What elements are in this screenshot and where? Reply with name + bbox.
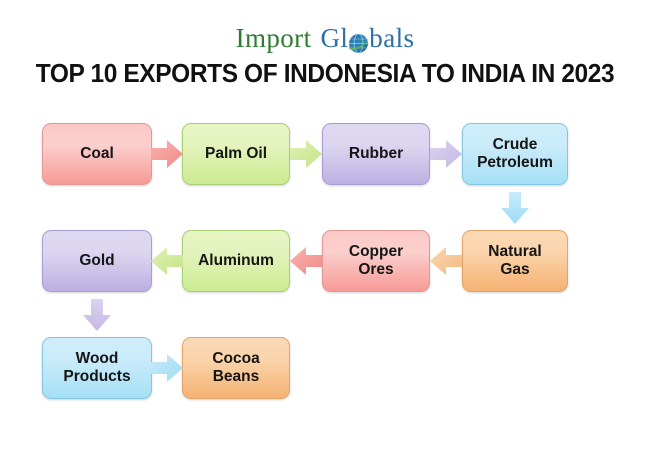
arrow-aluminum-to-gold (150, 244, 184, 278)
node-cocoa-beans[interactable]: Cocoa Beans (182, 337, 290, 399)
node-label: Natural Gas (482, 243, 547, 279)
node-palm-oil[interactable]: Palm Oil (182, 123, 290, 185)
node-aluminum[interactable]: Aluminum (182, 230, 290, 292)
node-coal[interactable]: Coal (42, 123, 152, 185)
node-copper-ores[interactable]: Copper Ores (322, 230, 430, 292)
node-label: Rubber (343, 145, 409, 163)
arrow-copper-ores-to-aluminum (289, 244, 323, 278)
node-label: Gold (73, 252, 120, 270)
node-label: Crude Petroleum (471, 136, 559, 172)
arrow-crude-petroleum-to-natural-gas (498, 191, 532, 225)
node-natural-gas[interactable]: Natural Gas (462, 230, 568, 292)
arrow-coal-to-palm-oil (150, 137, 184, 171)
node-label: Palm Oil (199, 145, 273, 163)
arrow-palm-oil-to-rubber (289, 137, 323, 171)
node-crude-petroleum[interactable]: Crude Petroleum (462, 123, 568, 185)
node-rubber[interactable]: Rubber (322, 123, 430, 185)
arrow-natural-gas-to-copper-ores (429, 244, 463, 278)
arrow-gold-to-wood-products (80, 298, 114, 332)
arrow-wood-products-to-cocoa-beans (150, 351, 184, 385)
node-label: Wood Products (57, 350, 136, 386)
node-label: Coal (74, 145, 120, 163)
node-gold[interactable]: Gold (42, 230, 152, 292)
node-wood-products[interactable]: Wood Products (42, 337, 152, 399)
exports-flowchart: CoalPalm OilRubberCrude PetroleumNatural… (0, 0, 650, 450)
node-label: Aluminum (192, 252, 280, 270)
arrow-rubber-to-crude-petroleum (429, 137, 463, 171)
node-label: Cocoa Beans (206, 350, 265, 386)
node-label: Copper Ores (343, 243, 409, 279)
